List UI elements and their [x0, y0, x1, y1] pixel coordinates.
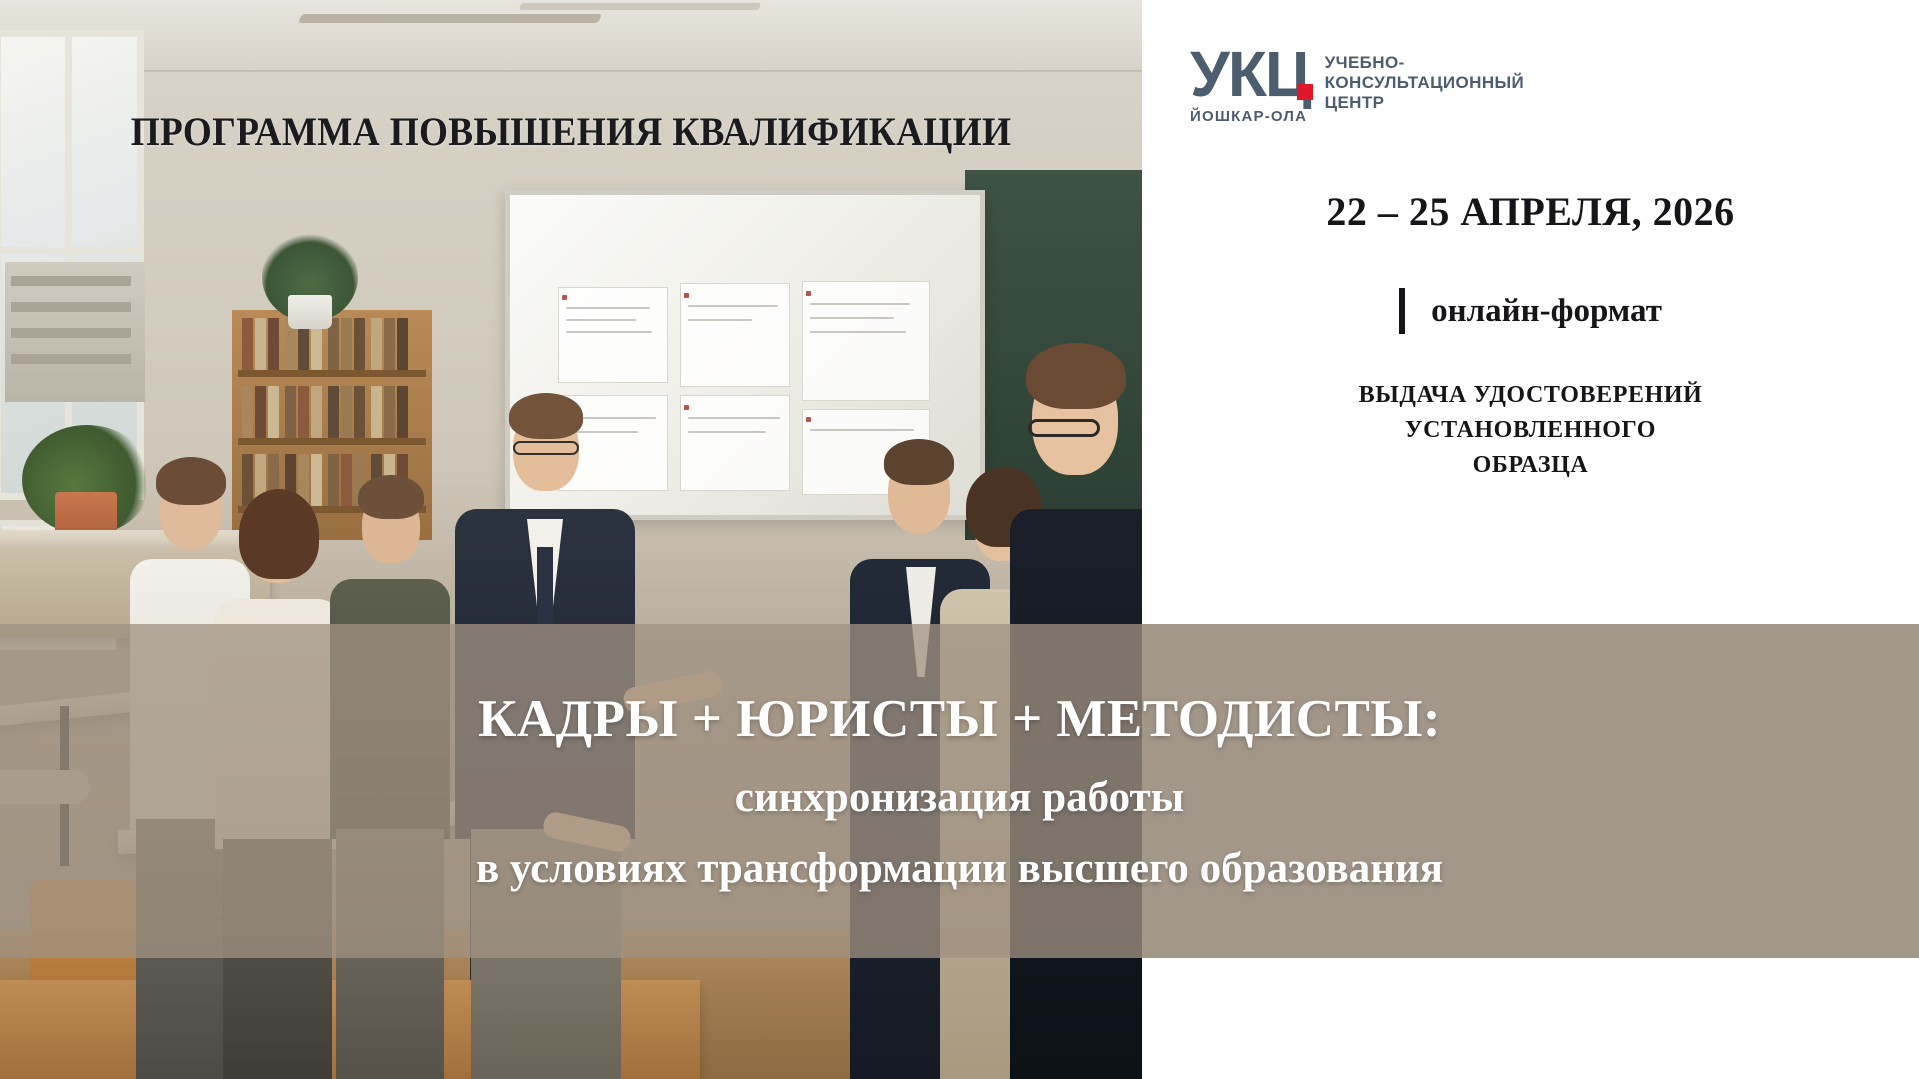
window-mullion-horizontal [1, 247, 137, 254]
event-format: онлайн-формат [1431, 293, 1662, 330]
person-hair [358, 475, 424, 519]
bookshelf [238, 370, 426, 377]
person-hair [1026, 343, 1126, 409]
headline-block: КАДРЫ + ЮРИСТЫ + МЕТОДИСТЫ: синхронизаци… [0, 624, 1919, 958]
certificate-line-3: ОБРАЗЦА [1142, 448, 1919, 483]
presenter-glasses [513, 441, 579, 455]
board-sheet [558, 287, 668, 383]
certificate-line-2: УСТАНОВЛЕННОГО [1142, 413, 1919, 448]
logo-name-line-2: КОНСУЛЬТАЦИОННЫЙ [1325, 73, 1525, 93]
certificate-line-1: ВЫДАЧА УДОСТОВЕРЕНИЙ [1142, 378, 1919, 413]
board-text-line [810, 317, 894, 319]
person-hair [239, 489, 319, 579]
promo-poster: ПРОГРАММА ПОВЫШЕНИЯ КВАЛИФИКАЦИИ УКЦ ЙОШ… [0, 0, 1919, 1079]
board-sheet [802, 281, 930, 401]
board-bullet [684, 293, 689, 298]
headline-line-2: синхронизация работы [735, 773, 1184, 822]
building-outside [5, 262, 145, 402]
headline-line-3: в условиях трансформации высшего образов… [476, 844, 1443, 893]
logo-mark-group: УКЦ ЙОШКАР-ОЛА [1190, 45, 1310, 125]
bookshelf [238, 438, 426, 445]
vertical-bar-icon [1399, 288, 1405, 334]
person-glasses [1028, 419, 1100, 437]
board-bullet [806, 417, 811, 422]
plant-pot [288, 295, 332, 329]
board-text-line [810, 303, 910, 305]
board-sheet [680, 395, 790, 491]
board-sheet [680, 283, 790, 387]
board-bullet [684, 405, 689, 410]
board-bullet [806, 291, 811, 296]
board-text-line [566, 319, 636, 321]
program-kicker: ПРОГРАММА ПОВЫШЕНИЯ КВАЛИФИКАЦИИ [40, 108, 1102, 155]
certificate-note: ВЫДАЧА УДОСТОВЕРЕНИЙ УСТАНОВЛЕННОГО ОБРА… [1142, 378, 1919, 482]
ceiling-beam-secondary [519, 3, 761, 10]
board-text-line [688, 305, 778, 307]
ceiling [0, 0, 1142, 72]
logo-name-line-3: ЦЕНТР [1325, 93, 1525, 113]
ukc-logo[interactable]: УКЦ ЙОШКАР-ОЛА УЧЕБНО- КОНСУЛЬТАЦИОННЫЙ … [1190, 45, 1524, 125]
presenter-hair [509, 393, 583, 439]
headline-line-1: КАДРЫ + ЮРИСТЫ + МЕТОДИСТЫ: [478, 689, 1441, 749]
ceiling-beam [298, 14, 602, 23]
logo-name-line-1: УЧЕБНО- [1325, 53, 1525, 73]
board-bullet [562, 295, 567, 300]
event-dates: 22 – 25 АПРЕЛЯ, 2026 [1142, 188, 1919, 235]
event-format-row: онлайн-формат [1142, 288, 1919, 334]
board-text-line [688, 319, 752, 321]
board-text-line [688, 431, 766, 433]
board-text-line [566, 307, 650, 309]
logo-mark: УКЦ [1190, 45, 1310, 104]
board-text-line [810, 331, 906, 333]
board-text-line [566, 331, 652, 333]
board-text-line [688, 417, 780, 419]
logo-accent-square [1297, 84, 1313, 100]
logo-letters: УКЦ [1190, 45, 1310, 104]
logo-full-name: УЧЕБНО- КОНСУЛЬТАЦИОННЫЙ ЦЕНТР [1325, 45, 1525, 113]
books [242, 386, 410, 438]
logo-city: ЙОШКАР-ОЛА [1190, 108, 1310, 125]
